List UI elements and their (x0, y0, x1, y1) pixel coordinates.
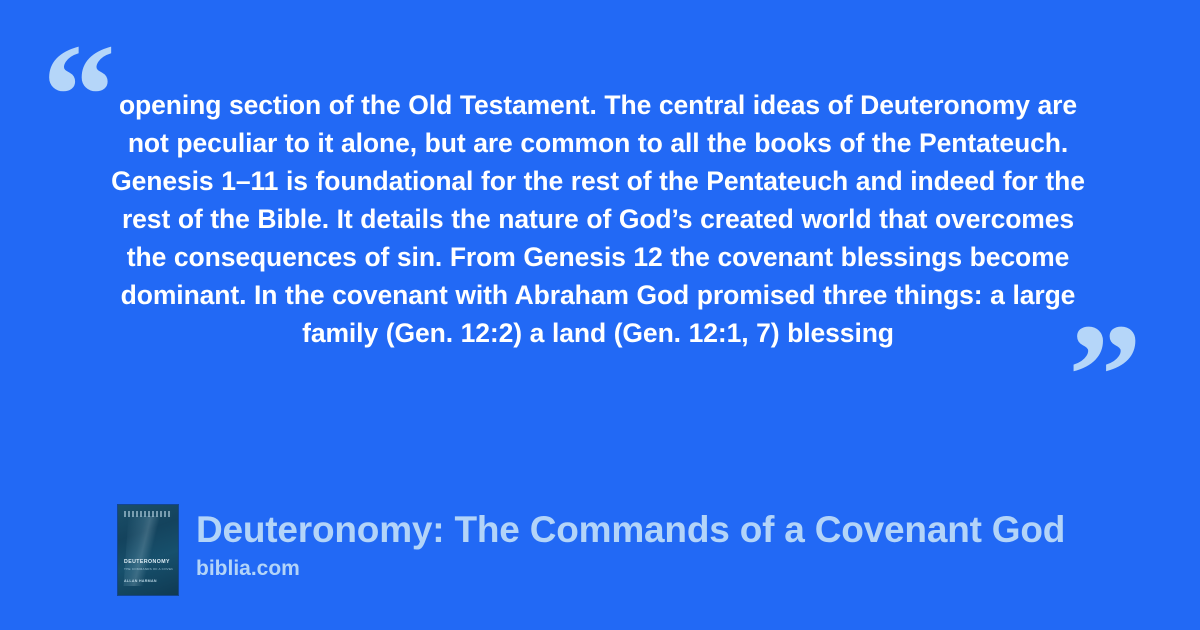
footer: DEUTERONOMY THE COMMANDS OF A COVENANT G… (118, 505, 1200, 600)
book-cover-subtitle: THE COMMANDS OF A COVENANT GOD (124, 567, 173, 571)
quote-text: opening section of the Old Testament. Th… (108, 86, 1088, 352)
book-cover-sheen (124, 516, 160, 586)
book-cover-thumbnail[interactable]: DEUTERONOMY THE COMMANDS OF A COVENANT G… (118, 505, 178, 595)
book-title: Deuteronomy: The Commands of a Covenant … (196, 507, 1065, 553)
book-cover-author: ALLAN HARMAN (124, 579, 172, 583)
source-site[interactable]: biblia.com (196, 555, 1065, 583)
open-quote-icon: “ (42, 22, 116, 170)
book-cover-title: DEUTERONOMY (124, 559, 172, 565)
quote-card: “ ” opening section of the Old Testament… (0, 0, 1200, 630)
footer-text-group: Deuteronomy: The Commands of a Covenant … (196, 505, 1065, 583)
